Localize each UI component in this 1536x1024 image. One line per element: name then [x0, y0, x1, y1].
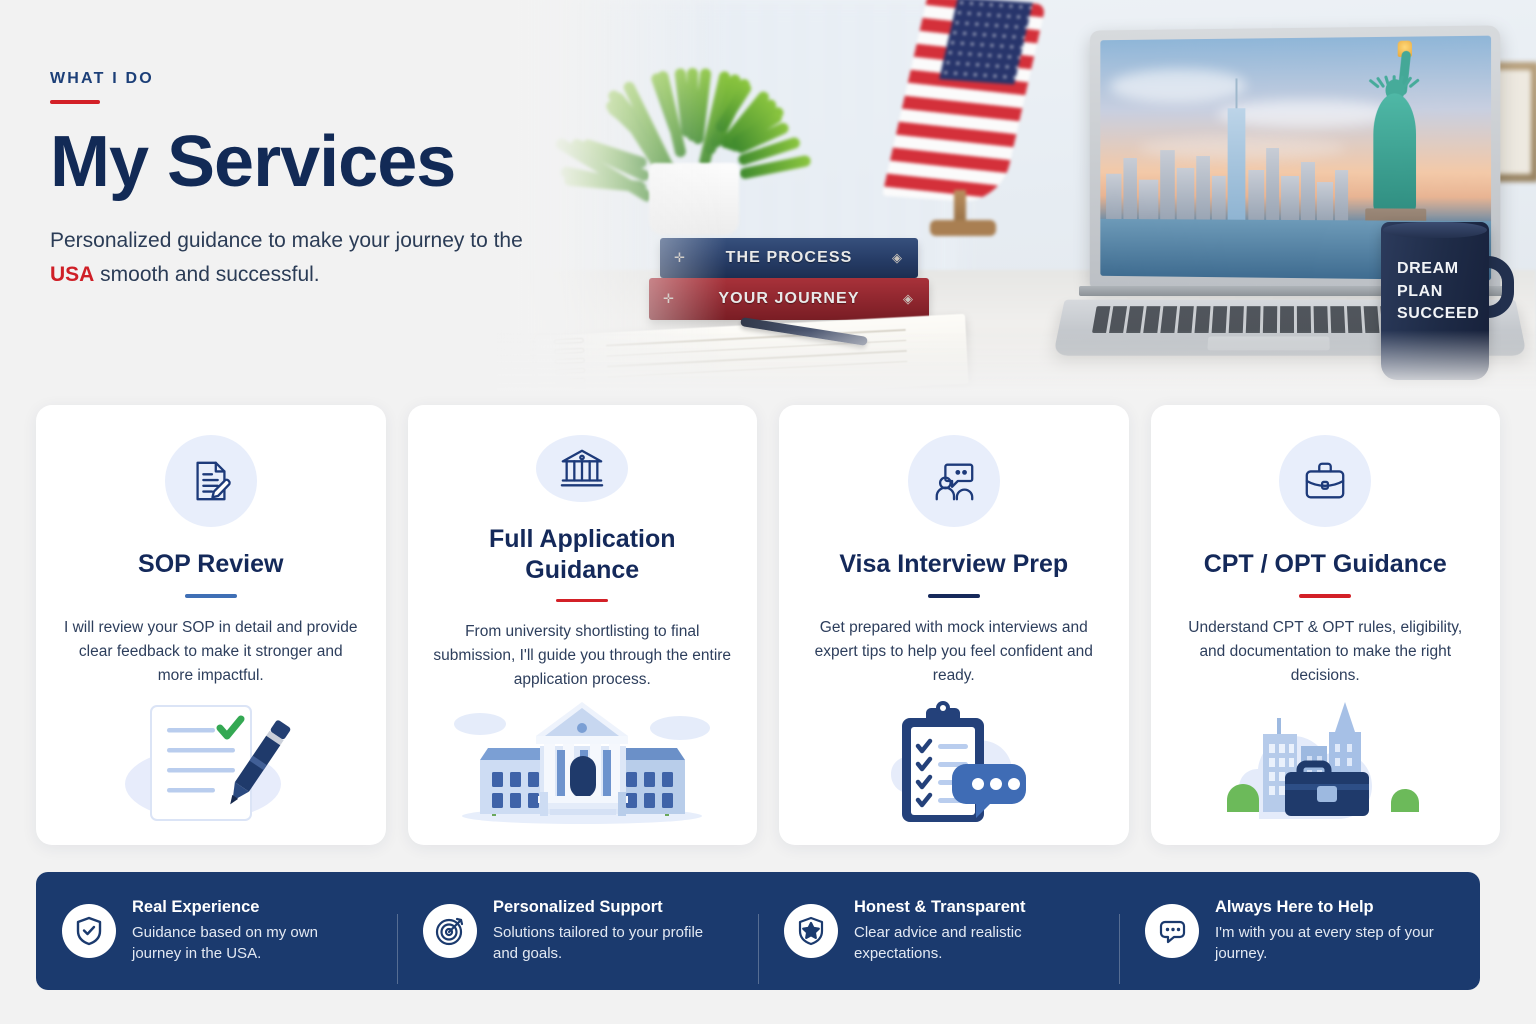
- card-description: From university shortlisting to final su…: [432, 620, 734, 692]
- card-divider: [556, 599, 608, 602]
- page-subtitle: Personalized guidance to make your journ…: [50, 224, 570, 292]
- university-bank-icon: [559, 446, 605, 492]
- book-ornament-right: ◈: [903, 291, 913, 307]
- feature-title: Always Here to Help: [1215, 898, 1454, 917]
- header: WHAT I DO My Services Personalized guida…: [50, 70, 570, 292]
- service-card-visa-interview-prep[interactable]: Visa Interview Prep Get prepared with mo…: [779, 405, 1129, 845]
- document-checkmark-pen-illustration: [103, 692, 318, 824]
- university-building-illustration: [440, 692, 725, 824]
- chat-bubble-dots-icon: [1156, 915, 1188, 947]
- card-title: Visa Interview Prep: [839, 549, 1068, 580]
- feature-text: Personalized Support Solutions tailored …: [493, 898, 732, 965]
- card-illustration-clipboard-chat: [854, 692, 1054, 829]
- book-title: THE PROCESS: [726, 249, 853, 267]
- card-title: CPT / OPT Guidance: [1204, 549, 1447, 580]
- card-divider: [1299, 594, 1351, 598]
- feature-text: Real Experience Guidance based on my own…: [132, 898, 371, 965]
- hero-photo: ✛ THE PROCESS ◈ ✛ YOUR JOURNEY ◈ DREAMPL…: [497, 0, 1536, 400]
- subtitle-part-2: smooth and successful.: [94, 263, 319, 286]
- card-description: Understand CPT & OPT rules, eligibility,…: [1175, 616, 1477, 688]
- services-page: ✛ THE PROCESS ◈ ✛ YOUR JOURNEY ◈ DREAMPL…: [0, 0, 1536, 1024]
- icon-badge: [536, 435, 628, 502]
- statue-robe: [1373, 93, 1416, 214]
- eyebrow-rule: [50, 100, 100, 104]
- book-ornament-right: ◈: [892, 250, 902, 266]
- feature-title: Personalized Support: [493, 898, 732, 917]
- feature-always-here-to-help[interactable]: Always Here to Help I'm with you at ever…: [1119, 898, 1480, 965]
- mug-text: DREAMPLANSUCCEED: [1397, 258, 1479, 326]
- trust-feature-bar: Real Experience Guidance based on my own…: [36, 872, 1480, 990]
- mug-rim: [1383, 222, 1487, 238]
- card-divider: [928, 594, 980, 598]
- feature-description: Clear advice and realistic expectations.: [854, 922, 1093, 965]
- shield-check-icon: [73, 915, 105, 947]
- mug-text-line: SUCCEED: [1397, 303, 1479, 326]
- briefcase-icon: [1302, 458, 1348, 504]
- icon-badge: [423, 904, 477, 958]
- book-title: YOUR JOURNEY: [718, 290, 859, 308]
- service-card-sop-review[interactable]: SOP Review I will review your SOP in det…: [36, 405, 386, 845]
- interview-people-chat-icon: [931, 458, 977, 504]
- card-illustration-briefcase-city: [1211, 692, 1439, 829]
- subtitle-part-1: Personalized guidance to make your journ…: [50, 229, 523, 252]
- service-cards: SOP Review I will review your SOP in det…: [36, 405, 1500, 845]
- shield-star-icon: [795, 915, 827, 947]
- feature-description: Guidance based on my own journey in the …: [132, 922, 371, 965]
- card-description: Get prepared with mock interviews and ex…: [803, 616, 1105, 688]
- feature-text: Honest & Transparent Clear advice and re…: [854, 898, 1093, 965]
- card-illustration-document-check-pen: [103, 692, 318, 829]
- city-skyline: [1104, 120, 1350, 221]
- page-title: My Services: [50, 126, 570, 198]
- icon-badge: [62, 904, 116, 958]
- photo-bottom-fade: [497, 330, 1536, 400]
- briefcase-city-illustration: [1211, 692, 1439, 824]
- card-title: Full Application Guidance: [432, 524, 734, 585]
- target-dart-icon: [434, 915, 466, 947]
- statue-of-liberty: [1351, 41, 1438, 249]
- service-card-full-application-guidance[interactable]: Full Application Guidance From universit…: [408, 405, 758, 845]
- icon-badge: [784, 904, 838, 958]
- feature-description: I'm with you at every step of your journ…: [1215, 922, 1454, 965]
- card-title: SOP Review: [138, 549, 283, 580]
- icon-badge: [1279, 435, 1371, 527]
- feature-title: Honest & Transparent: [854, 898, 1093, 917]
- icon-badge: [165, 435, 257, 527]
- feature-description: Solutions tailored to your profile and g…: [493, 922, 732, 965]
- subtitle-highlight-usa: USA: [50, 263, 94, 286]
- one-world-trade: [1228, 108, 1246, 220]
- feature-honest-transparent[interactable]: Honest & Transparent Clear advice and re…: [758, 898, 1119, 965]
- icon-badge: [1145, 904, 1199, 958]
- card-divider: [185, 594, 237, 598]
- feature-text: Always Here to Help I'm with you at ever…: [1215, 898, 1454, 965]
- eyebrow-label: WHAT I DO: [50, 70, 570, 88]
- flag-base: [930, 220, 996, 236]
- feature-title: Real Experience: [132, 898, 371, 917]
- usa-flag: [892, 0, 1032, 234]
- clipboard-checklist-chat-illustration: [854, 692, 1054, 824]
- mug-text-line: DREAM: [1397, 258, 1479, 281]
- feature-personalized-support[interactable]: Personalized Support Solutions tailored …: [397, 898, 758, 965]
- service-card-cpt-opt-guidance[interactable]: CPT / OPT Guidance Understand CPT & OPT …: [1151, 405, 1501, 845]
- icon-badge: [908, 435, 1000, 527]
- feature-real-experience[interactable]: Real Experience Guidance based on my own…: [36, 898, 397, 965]
- card-description: I will review your SOP in detail and pro…: [60, 616, 362, 688]
- card-illustration-university: [440, 692, 725, 829]
- mug-text-line: PLAN: [1397, 281, 1479, 304]
- document-pen-icon: [188, 458, 234, 504]
